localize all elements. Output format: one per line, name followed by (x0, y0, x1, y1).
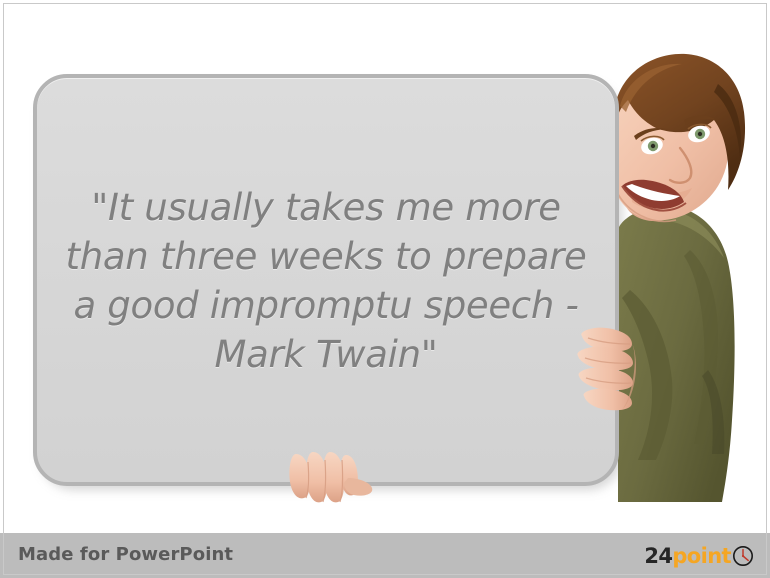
hand-bottom-icon (286, 452, 376, 512)
logo-text-point: point (672, 544, 731, 568)
quote-block: "It usually takes me more than three wee… (46, 96, 606, 466)
logo-text-24: 24 (644, 544, 672, 568)
slide-stage: "It usually takes me more than three wee… (0, 0, 770, 533)
footer-bar: Made for PowerPoint 24point (0, 533, 770, 578)
hand-right-icon (576, 322, 646, 432)
footer-label: Made for PowerPoint (18, 544, 233, 565)
character-head (607, 54, 745, 222)
brand-logo[interactable]: 24point (644, 543, 754, 569)
clock-icon (732, 545, 754, 567)
slide-canvas: "It usually takes me more than three wee… (0, 0, 770, 578)
quote-text: "It usually takes me more than three wee… (66, 183, 587, 380)
